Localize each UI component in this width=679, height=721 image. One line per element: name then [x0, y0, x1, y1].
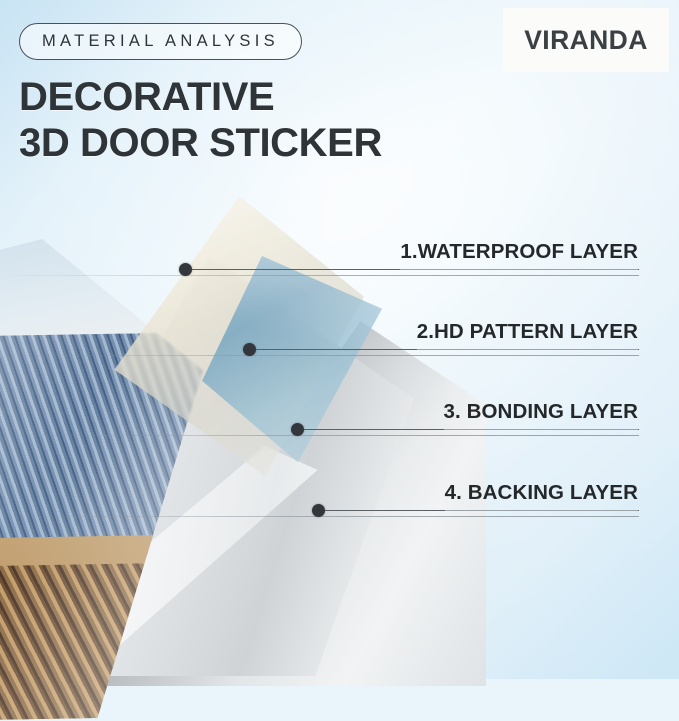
- callout-dot-hd-pattern-layer: [243, 343, 256, 356]
- callout-rule-2: [0, 355, 639, 356]
- callout-group: 1.WATERPROOF LAYER 2.HD PATTERN LAYER 3.…: [0, 0, 679, 679]
- callout-rule-3: [0, 435, 639, 436]
- callout-label-hd-pattern-layer: 2.HD PATTERN LAYER: [417, 320, 638, 350]
- callout-rule-1: [0, 275, 639, 276]
- callout-dot-backing-layer: [312, 504, 325, 517]
- callout-label-backing-layer: 4. BACKING LAYER: [445, 481, 638, 511]
- callout-dot-bonding-layer: [291, 423, 304, 436]
- callout-label-waterproof-layer: 1.WATERPROOF LAYER: [400, 240, 638, 270]
- callout-dot-waterproof-layer: [179, 263, 192, 276]
- callout-label-bonding-layer: 3. BONDING LAYER: [444, 400, 639, 430]
